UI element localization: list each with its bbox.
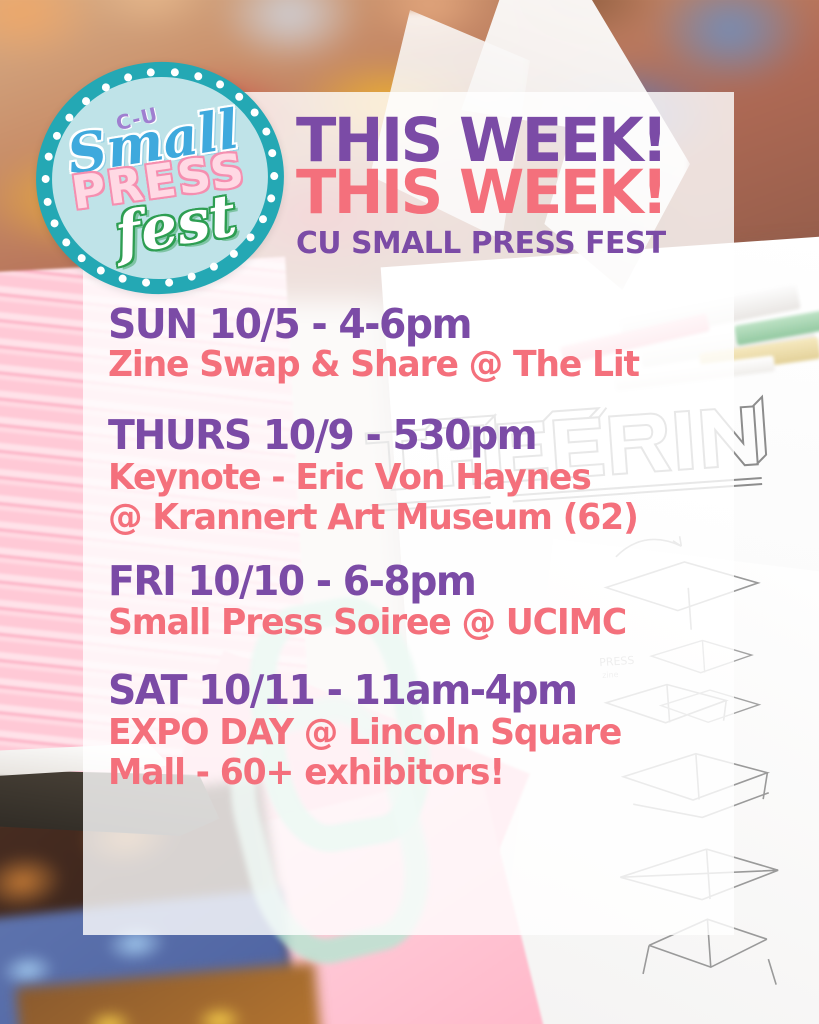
poster-canvas: PRESS zine [0,0,819,1024]
headline-block: THIS WEEK! THIS WEEK! CU SMALL PRESS FES… [296,112,736,261]
event-detail: Mall - 60+ exhibitors! [108,753,709,793]
event-date: THURS 10/9 - 530pm [108,414,709,456]
event-detail: EXPO DAY @ Lincoln Square [108,713,709,753]
event-list: SUN 10/5 - 4-6pm Zine Swap & Share @ The… [108,303,734,794]
event-item: FRI 10/10 - 6-8pm Small Press Soiree @ U… [108,560,734,643]
event-detail: Keynote - Eric Von Haynes [108,458,709,498]
event-item: SAT 10/11 - 11am-4pm EXPO DAY @ Lincoln … [108,669,734,794]
logo-badge: C-U Small PRESS fest [26,52,293,305]
event-detail: @ Krannert Art Museum (62) [108,498,709,538]
headline-line-2: THIS WEEK! [296,164,723,222]
logo-line-fest: fest [112,191,240,261]
event-date: SAT 10/11 - 11am-4pm [108,669,709,711]
event-date: FRI 10/10 - 6-8pm [108,560,709,602]
headline-subtitle: CU SMALL PRESS FEST [296,226,732,261]
event-detail: Zine Swap & Share @ The Lit [108,345,709,385]
logo-wordmark: C-U Small PRESS fest [26,52,293,305]
event-date: SUN 10/5 - 4-6pm [108,303,709,345]
event-detail: Small Press Soiree @ UCIMC [108,603,709,643]
event-item: THURS 10/9 - 530pm Keynote - Eric Von Ha… [108,414,734,539]
event-item: SUN 10/5 - 4-6pm Zine Swap & Share @ The… [108,303,734,386]
